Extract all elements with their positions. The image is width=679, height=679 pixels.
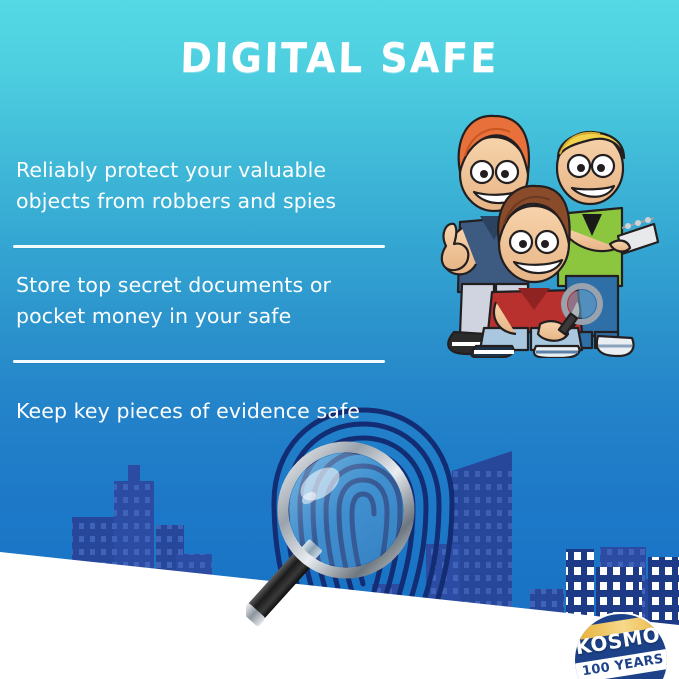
three-detective-kids-illustration — [432, 96, 660, 358]
feature-list: Reliably protect your valuable objects f… — [13, 155, 385, 427]
page-title: DIGITAL SAFE — [23, 34, 656, 82]
feature-item-2: Store top secret documents or pocket mon… — [13, 270, 385, 332]
feature-item-1: Reliably protect your valuable objects f… — [13, 155, 385, 217]
divider-2 — [13, 360, 385, 363]
product-feature-poster: DIGITAL SAFE Reliably protect your valua… — [0, 0, 679, 679]
kosmos-logo-badge: KOSMOS 100 YEARS — [573, 612, 669, 679]
feature-item-3: Keep key pieces of evidence safe — [13, 396, 385, 427]
magnifying-glass-graphic — [246, 440, 466, 640]
logo-circle: KOSMOS 100 YEARS — [573, 612, 669, 679]
divider-1 — [13, 245, 385, 248]
